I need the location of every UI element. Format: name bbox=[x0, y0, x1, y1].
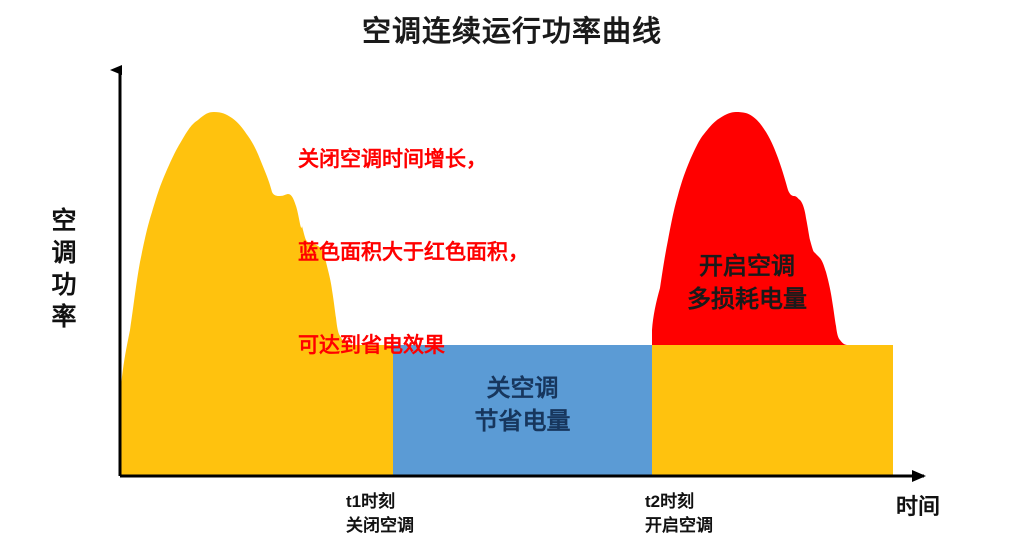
yellow-plateau-area bbox=[652, 345, 893, 476]
chart-title: 空调连续运行功率曲线 bbox=[0, 8, 1024, 50]
red-region-label-line-1: 开启空调 bbox=[652, 250, 842, 283]
x-tick-label-t1-line-2: 关闭空调 bbox=[346, 514, 414, 538]
x-tick-label-t2: t2时刻 开启空调 bbox=[645, 490, 713, 538]
red-region-label-line-2: 多损耗电量 bbox=[652, 283, 842, 316]
diagram-canvas: 空调连续运行功率曲线 关闭空调时间增长， 蓝色面积大于红色面积， 可达到省电效果… bbox=[0, 0, 1024, 545]
x-tick-label-t1-line-1: t1时刻 bbox=[346, 490, 414, 514]
annotation-line-3: 可达到省电效果 bbox=[298, 330, 529, 361]
blue-region-label-line-2: 节省电量 bbox=[393, 405, 652, 438]
annotation-line-1: 关闭空调时间增长， bbox=[298, 144, 529, 175]
annotation-line-2: 蓝色面积大于红色面积， bbox=[298, 237, 529, 268]
x-tick-label-t1: t1时刻 关闭空调 bbox=[346, 490, 414, 538]
blue-region-label: 关空调 节省电量 bbox=[393, 372, 652, 438]
red-region-label: 开启空调 多损耗电量 bbox=[652, 250, 842, 316]
x-axis-label: 时间 bbox=[896, 489, 940, 521]
y-axis-label: 空调功率 bbox=[42, 205, 86, 333]
x-tick-label-t2-line-1: t2时刻 bbox=[645, 490, 713, 514]
blue-region-label-line-1: 关空调 bbox=[393, 372, 652, 405]
x-tick-label-t2-line-2: 开启空调 bbox=[645, 514, 713, 538]
